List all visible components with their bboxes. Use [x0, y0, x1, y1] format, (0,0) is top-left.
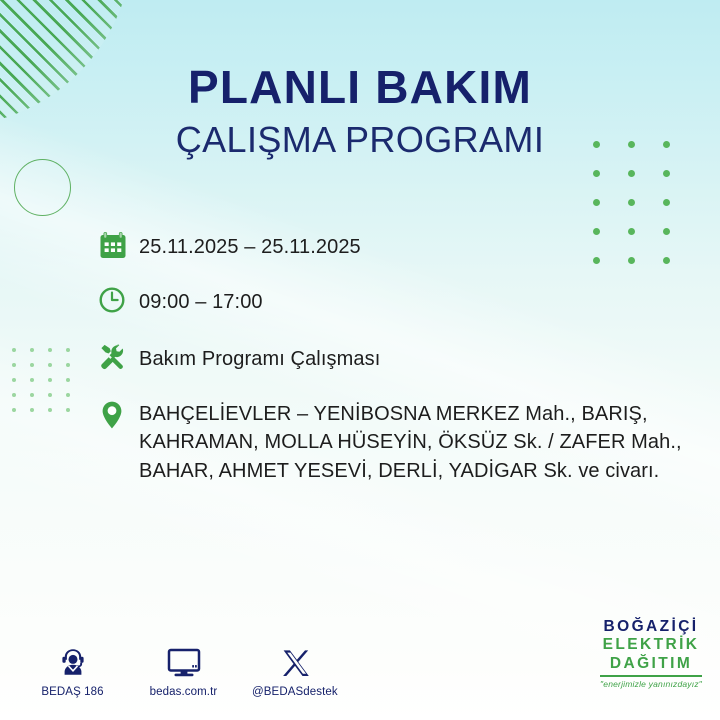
page-subtitle: ÇALIŞMA PROGRAMI — [0, 122, 720, 158]
contact-website-label: bedas.com.tr — [141, 686, 226, 698]
contact-website[interactable]: bedas.com.tr — [141, 639, 226, 698]
brand-line-3: DAĞITIM — [600, 656, 702, 672]
brand-line-1: BOĞAZİÇİ — [600, 619, 702, 635]
brand-tagline: "enerjimizle yanınızdayız" — [600, 680, 702, 689]
info-row-date: 25.11.2025 – 25.11.2025 — [97, 228, 697, 266]
x-twitter-icon — [252, 639, 337, 679]
tools-icon — [97, 340, 139, 378]
info-row-location: BAHÇELİEVLER – YENİBOSNA MERKEZ Mah., BA… — [97, 398, 697, 485]
circle-outline-decoration — [14, 159, 71, 216]
page-title: PLANLI BAKIM — [0, 64, 720, 110]
poster-header: PLANLI BAKIM ÇALIŞMA PROGRAMI — [0, 64, 720, 158]
monitor-icon — [141, 639, 226, 679]
date-range-text: 25.11.2025 – 25.11.2025 — [139, 228, 361, 261]
contact-phone[interactable]: BEDAŞ 186 — [30, 639, 115, 698]
call-center-agent-icon — [30, 639, 115, 679]
map-pin-icon — [97, 398, 139, 436]
dot-grid-left-decoration — [12, 348, 84, 423]
poster-footer: BEDAŞ 186 bedas.com.tr — [0, 626, 720, 706]
clock-icon — [97, 283, 139, 321]
location-text: BAHÇELİEVLER – YENİBOSNA MERKEZ Mah., BA… — [139, 398, 697, 485]
calendar-icon — [97, 228, 139, 266]
contact-x-label: @BEDASdestek — [252, 686, 337, 698]
info-row-work-type: Bakım Programı Çalışması — [97, 340, 697, 378]
brand-logo: BOĞAZİÇİ ELEKTRİK DAĞITIM "enerjimizle y… — [600, 619, 702, 688]
brand-line-2: ELEKTRİK — [600, 637, 702, 653]
contact-channels: BEDAŞ 186 bedas.com.tr — [30, 639, 337, 698]
poster-canvas: PLANLI BAKIM ÇALIŞMA PROGRAMI — [0, 0, 720, 720]
contact-x-account[interactable]: @BEDASdestek — [252, 639, 337, 698]
work-type-text: Bakım Programı Çalışması — [139, 340, 380, 373]
info-list: 25.11.2025 – 25.11.2025 09:00 – 17:00 — [97, 228, 697, 485]
contact-phone-label: BEDAŞ 186 — [30, 686, 115, 698]
brand-divider — [600, 675, 702, 676]
time-range-text: 09:00 – 17:00 — [139, 283, 263, 316]
info-row-time: 09:00 – 17:00 — [97, 283, 697, 321]
